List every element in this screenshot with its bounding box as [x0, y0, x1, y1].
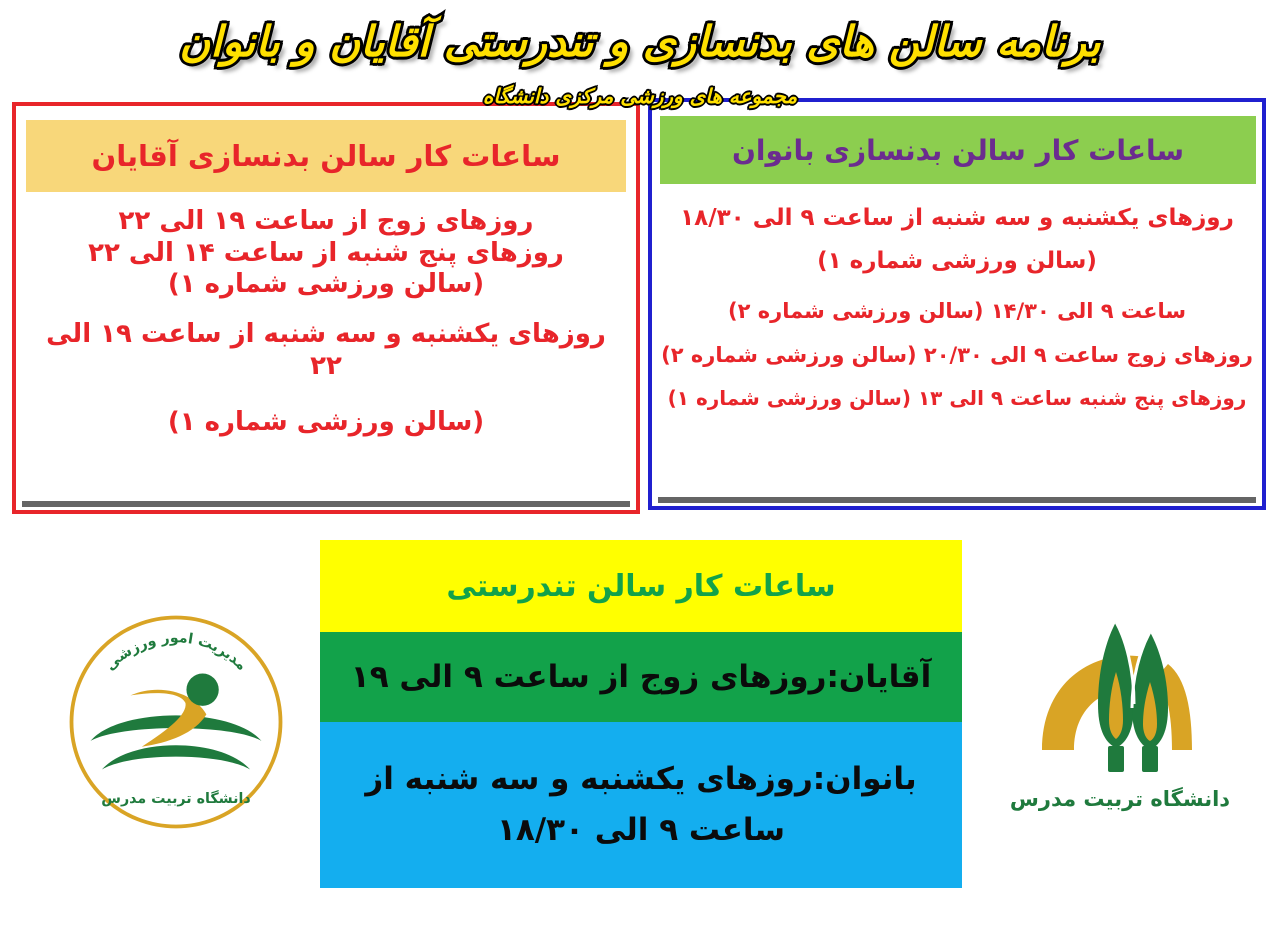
women-panel-body: روزهای یکشنبه و سه شنبه از ساعت ۹ الی ۱۸…	[660, 192, 1254, 492]
university-logo: دانشگاه تربیت مدرس	[1000, 600, 1240, 840]
poster-title-block: برنامه سالن های بدنسازی و تندرستی آقایان…	[0, 0, 1280, 100]
sports-affairs-logo: مدیریت امور ورزشی دانشگاه تربیت مدرس	[62, 608, 290, 836]
men-panel-body: روزهای زوج از ساعت ۱۹ الی ۲۲ روزهای پنج …	[26, 198, 626, 496]
men-panel-bottom-shadow	[22, 501, 630, 507]
university-logo-caption: دانشگاه تربیت مدرس	[1010, 786, 1230, 811]
fitness-hall-schedule-panel: ساعات کار سالن تندرستی آقایان:روزهای زوج…	[320, 540, 962, 888]
men-panel-header: ساعات کار سالن بدنسازی آقایان	[26, 120, 626, 192]
fitness-panel-header-label: ساعات کار سالن تندرستی	[446, 569, 835, 604]
men-bodybuilding-schedule-panel: ساعات کار سالن بدنسازی آقایان روزهای زوج…	[12, 102, 640, 514]
fitness-women-label-line2: ساعت ۹ الی ۱۸/۳۰	[479, 805, 803, 856]
tarbiat-modares-logo-icon: دانشگاه تربیت مدرس	[1000, 600, 1240, 840]
women-schedule-line-5: روزهای پنج شنبه ساعت ۹ الی ۱۳ (سالن ورزش…	[660, 386, 1254, 411]
women-schedule-line-4: روزهای زوج ساعت ۹ الی ۲۰/۳۰ (سالن ورزشی …	[660, 342, 1254, 368]
men-schedule-line-2: روزهای پنج شنبه از ساعت ۱۴ الی ۲۲	[26, 238, 626, 270]
sports-logo-bottom-text: دانشگاه تربیت مدرس	[101, 790, 250, 807]
men-schedule-line-1: روزهای زوج از ساعت ۱۹ الی ۲۲	[26, 206, 626, 238]
men-panel-header-label: ساعات کار سالن بدنسازی آقایان	[91, 139, 560, 173]
women-schedule-line-1: روزهای یکشنبه و سه شنبه از ساعت ۹ الی ۱۸…	[660, 204, 1254, 233]
fitness-men-label: آقایان:روزهای زوج از ساعت ۹ الی ۱۹	[351, 659, 931, 695]
women-panel-header: ساعات کار سالن بدنسازی بانوان	[660, 116, 1256, 184]
sports-affairs-logo-icon: مدیریت امور ورزشی دانشگاه تربیت مدرس	[62, 608, 290, 836]
women-bodybuilding-schedule-panel: ساعات کار سالن بدنسازی بانوان روزهای یکش…	[648, 98, 1266, 510]
page-title: برنامه سالن های بدنسازی و تندرستی آقایان…	[0, 18, 1280, 65]
page-subtitle: مجموعه های ورزشی مرکزی دانشگاه	[0, 84, 1280, 108]
fitness-panel-header: ساعات کار سالن تندرستی	[320, 540, 962, 632]
women-panel-header-label: ساعات کار سالن بدنسازی بانوان	[732, 134, 1184, 167]
men-schedule-line-4: روزهای یکشنبه و سه شنبه از ساعت ۱۹ الی ۲…	[26, 319, 626, 382]
fitness-men-row: آقایان:روزهای زوج از ساعت ۹ الی ۱۹	[320, 632, 962, 722]
women-schedule-line-3: ساعت ۹ الی ۱۴/۳۰ (سالن ورزشی شماره ۲)	[660, 298, 1254, 324]
men-schedule-line-3: (سالن ورزشی شماره ۱)	[26, 269, 626, 301]
fitness-women-row: بانوان:روزهای یکشنبه و سه شنبه از ساعت ۹…	[320, 722, 962, 888]
fitness-women-label-line1: بانوان:روزهای یکشنبه و سه شنبه از	[347, 754, 934, 805]
women-panel-bottom-shadow	[658, 497, 1256, 503]
women-schedule-line-2: (سالن ورزشی شماره ۱)	[660, 247, 1254, 276]
men-schedule-line-5: (سالن ورزشی شماره ۱)	[26, 407, 626, 439]
